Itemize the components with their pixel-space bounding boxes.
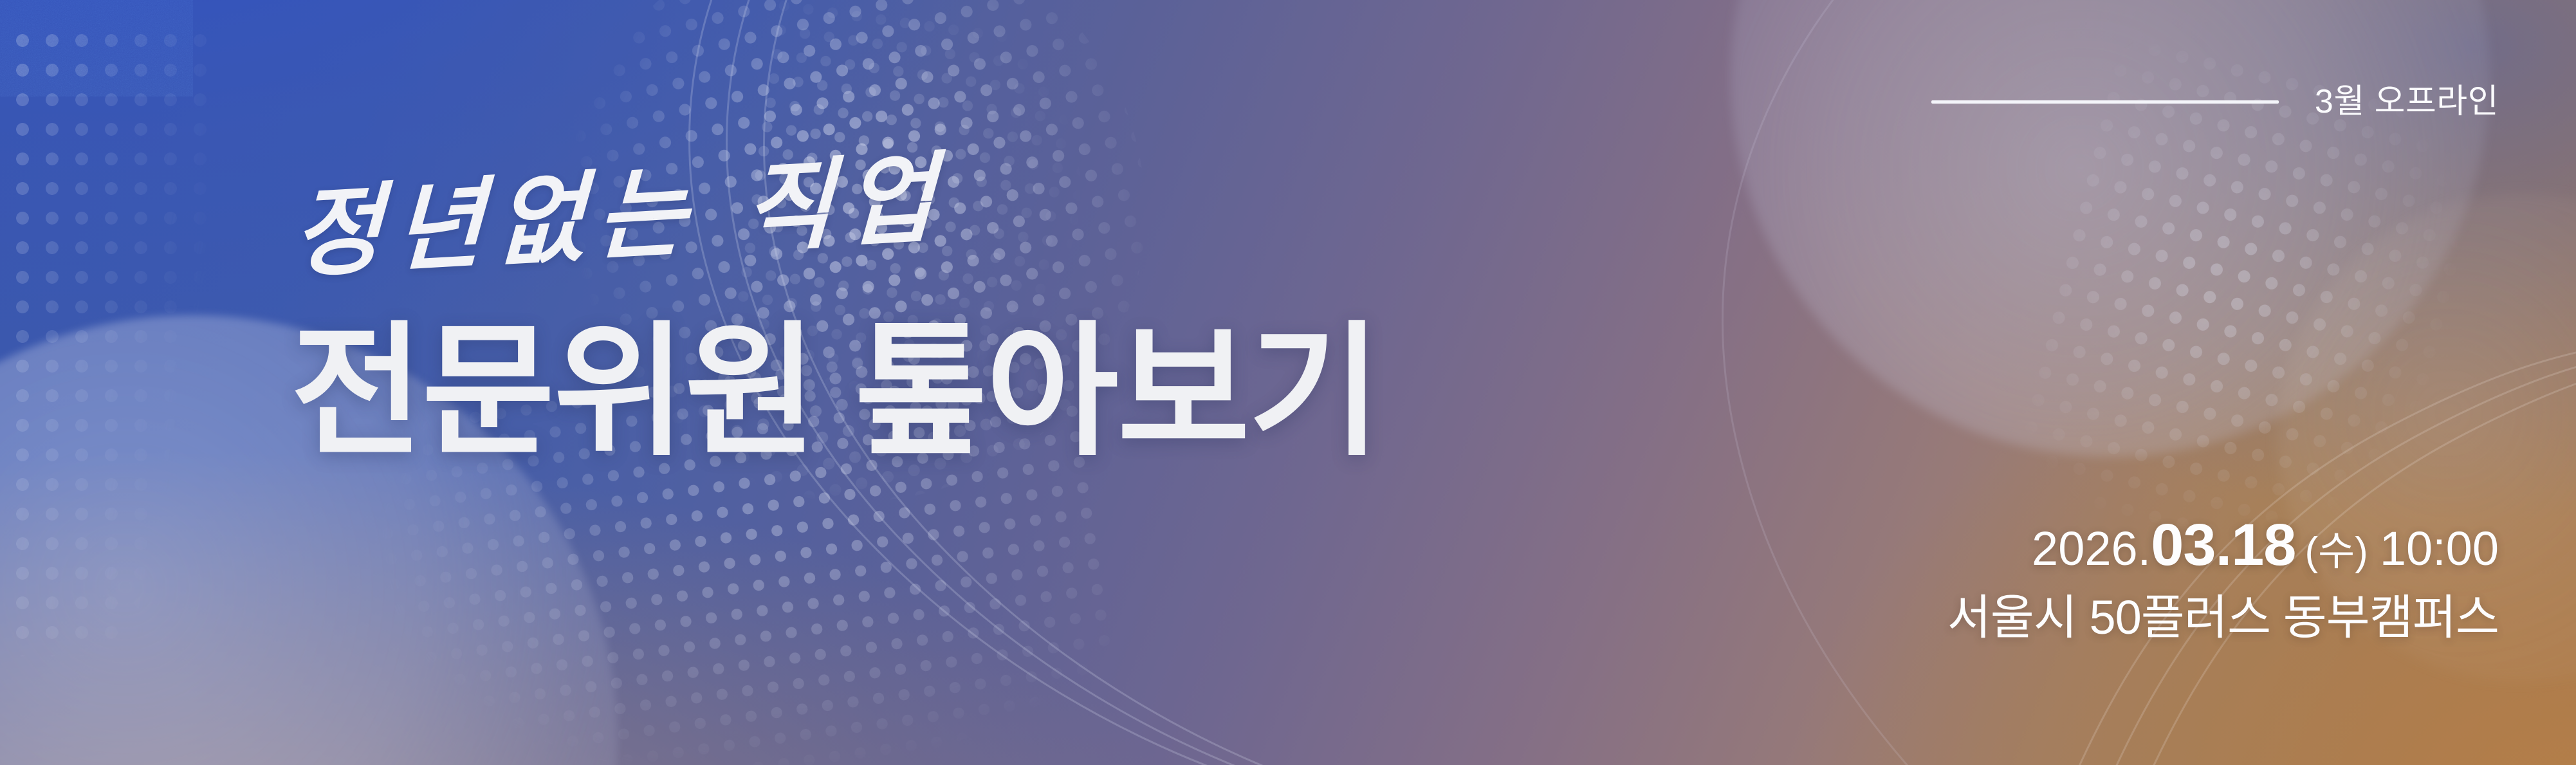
event-date-weekday: (수) <box>2305 530 2368 574</box>
banner-subtitle: 정년없는 직업 <box>291 149 948 283</box>
eyebrow-row: 3월 오프라인 <box>1931 85 2499 118</box>
event-date-line: 2026.03.18(수)10:00 <box>1947 510 2499 580</box>
event-date-time: 10:00 <box>2380 522 2499 575</box>
event-banner: 3월 오프라인 정년없는 직업 전문위원 톺아보기 2026.03.18(수)1… <box>0 0 2576 765</box>
eyebrow-label: 3월 오프라인 <box>2315 85 2499 118</box>
event-date-year: 2026. <box>2032 522 2151 575</box>
banner-headline: 전문위원 톺아보기 <box>291 310 1380 474</box>
event-date-monthday: 03.18 <box>2151 512 2295 578</box>
banner-content: 3월 오프라인 정년없는 직업 전문위원 톺아보기 2026.03.18(수)1… <box>0 0 2576 765</box>
eyebrow-rule-line <box>1931 100 2279 104</box>
event-info-block: 2026.03.18(수)10:00 서울시 50플러스 동부캠퍼스 <box>1947 510 2499 645</box>
event-venue: 서울시 50플러스 동부캠퍼스 <box>1947 589 2499 645</box>
